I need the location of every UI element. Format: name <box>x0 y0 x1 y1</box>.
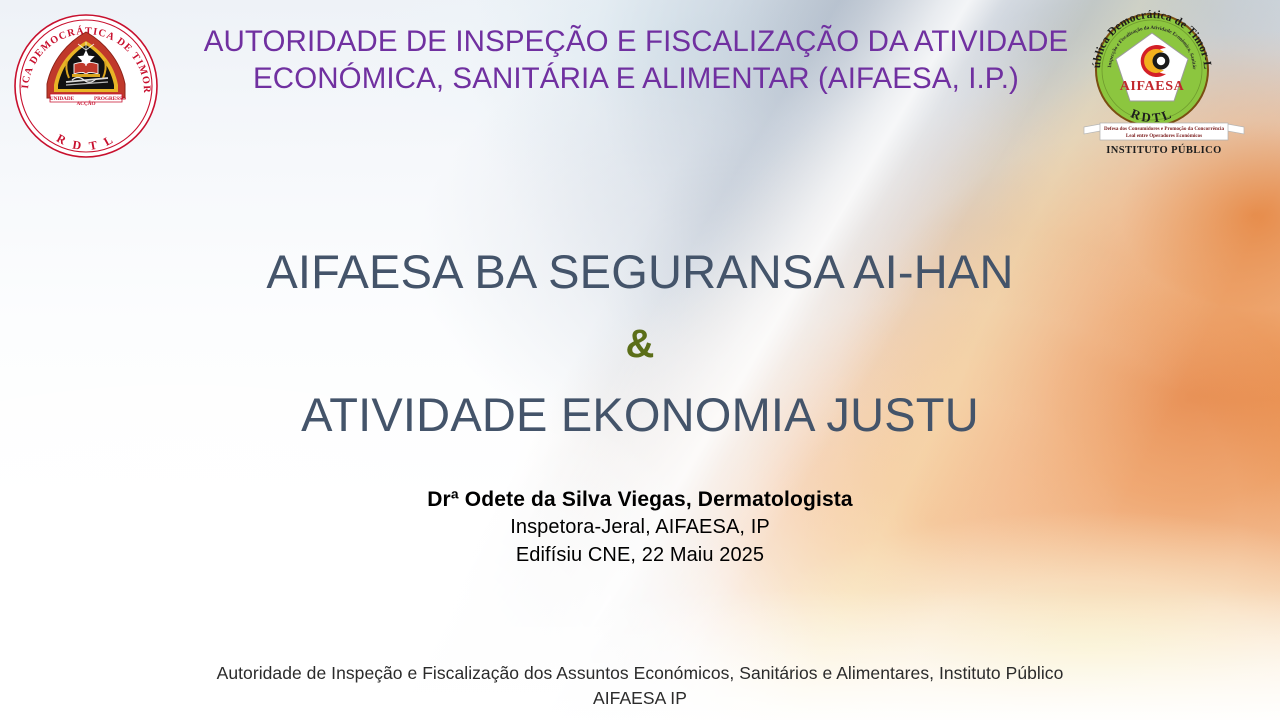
presenter-name: Drª Odete da Silva Viegas, Dermatologist… <box>0 486 1280 514</box>
presenter-block: Drª Odete da Silva Viegas, Dermatologist… <box>0 486 1280 569</box>
presenter-role: Inspetora-Jeral, AIFAESA, IP <box>0 514 1280 542</box>
presentation-slide: REPÚBLICA DEMOCRÁTICA DE TIMOR-LESTE R D… <box>0 0 1280 720</box>
organisation-header-line-2: ECONÓMICA, SANITÁRIA E ALIMENTAR (AIFAES… <box>168 61 1104 98</box>
aifaesa-seal-logo: República Democrática de Timor-Leste Aut… <box>1078 2 1274 174</box>
svg-text:UNIDADE: UNIDADE <box>50 96 75 102</box>
svg-text:PROGRESSO: PROGRESSO <box>94 96 126 102</box>
footer-line-1: Autoridade de Inspeção e Fiscalização do… <box>0 661 1280 686</box>
svg-text:Leal entre Operadores Económic: Leal entre Operadores Económicos <box>1126 133 1202 139</box>
slide-title-line-2: ATIVIDADE EKONOMIA JUSTU <box>0 390 1280 440</box>
rdtl-coat-of-arms-logo: REPÚBLICA DEMOCRÁTICA DE TIMOR-LESTE R D… <box>6 6 166 166</box>
slide-footer: Autoridade de Inspeção e Fiscalização do… <box>0 661 1280 712</box>
slide-title-ampersand: & <box>0 324 1280 364</box>
organisation-header: AUTORIDADE DE INSPEÇÃO E FISCALIZAÇÃO DA… <box>168 24 1104 97</box>
seal-banner: Defesa dos Consumidores e Promoção da Co… <box>1084 123 1244 140</box>
seal-center-text: AIFAESA <box>1120 79 1185 94</box>
presenter-venue-date: Edifísiu CNE, 22 Maiu 2025 <box>0 542 1280 570</box>
slide-title-line-1: AIFAESA BA SEGURANSA AI-HAN <box>0 247 1280 297</box>
seal-instituto-publico-text: INSTITUTO PÚBLICO <box>1106 144 1221 156</box>
footer-line-2: AIFAESA IP <box>0 686 1280 711</box>
book-base <box>72 74 100 77</box>
slide-title-block: AIFAESA BA SEGURANSA AI-HAN & ATIVIDADE … <box>0 247 1280 440</box>
organisation-header-line-1: AUTORIDADE DE INSPEÇÃO E FISCALIZAÇÃO DA… <box>168 24 1104 61</box>
svg-text:Defesa dos Consumidores e Prom: Defesa dos Consumidores e Promoção da Co… <box>1104 126 1225 132</box>
svg-text:ACÇÃO: ACÇÃO <box>76 99 95 107</box>
